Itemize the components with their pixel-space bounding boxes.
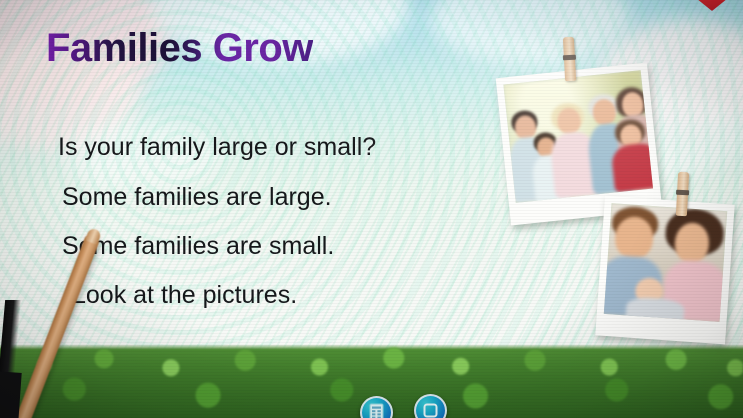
screen-icon <box>422 402 439 418</box>
keypad-icon <box>369 403 384 418</box>
whiteboard-screen: Families Grow Is your family large or sm… <box>0 0 743 418</box>
scanline-overlay <box>0 0 743 418</box>
screen-bezel-corner <box>0 371 22 418</box>
